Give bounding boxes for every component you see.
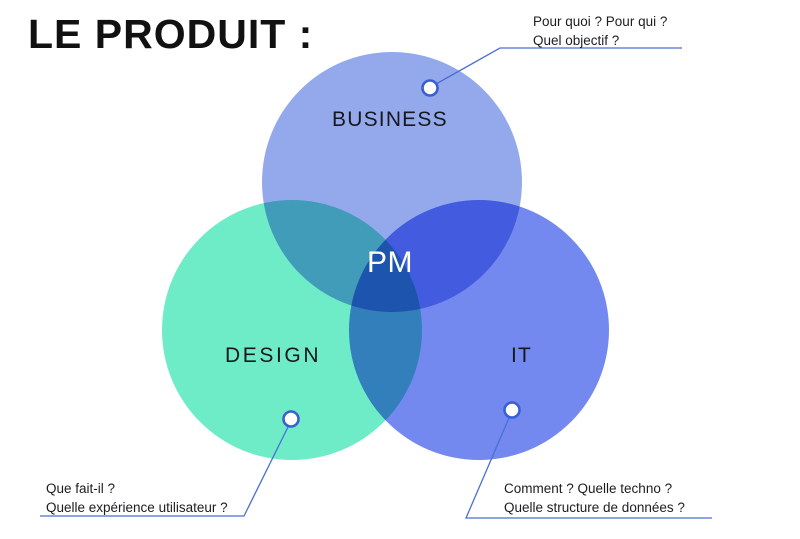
slide-canvas: LE PRODUIT : BUSINESS DESIGN IT PM Pour …: [0, 0, 800, 539]
annotation-it-line1: Comment ? Quelle techno ?: [504, 479, 685, 498]
connector-dot-business[interactable]: [423, 81, 438, 96]
annotation-business-line2: Quel objectif ?: [533, 31, 667, 50]
annotation-design-line2: Quelle expérience utilisateur ?: [46, 498, 228, 517]
venn-label-business: BUSINESS: [332, 108, 448, 132]
annotation-design-line1: Que fait-il ?: [46, 479, 228, 498]
venn-circle-it[interactable]: [349, 200, 609, 460]
connector-dot-it[interactable]: [505, 403, 520, 418]
annotation-it: Comment ? Quelle techno ? Quelle structu…: [504, 479, 685, 517]
annotation-it-line2: Quelle structure de données ?: [504, 498, 685, 517]
venn-label-design: DESIGN: [225, 344, 321, 368]
connector-dot-design[interactable]: [284, 412, 299, 427]
annotation-business: Pour quoi ? Pour qui ? Quel objectif ?: [533, 12, 667, 50]
leader-line-business: [436, 48, 682, 84]
annotation-design: Que fait-il ? Quelle expérience utilisat…: [46, 479, 228, 517]
venn-label-it: IT: [511, 344, 532, 368]
annotation-business-line1: Pour quoi ? Pour qui ?: [533, 12, 667, 31]
venn-label-center-pm: PM: [367, 246, 413, 280]
